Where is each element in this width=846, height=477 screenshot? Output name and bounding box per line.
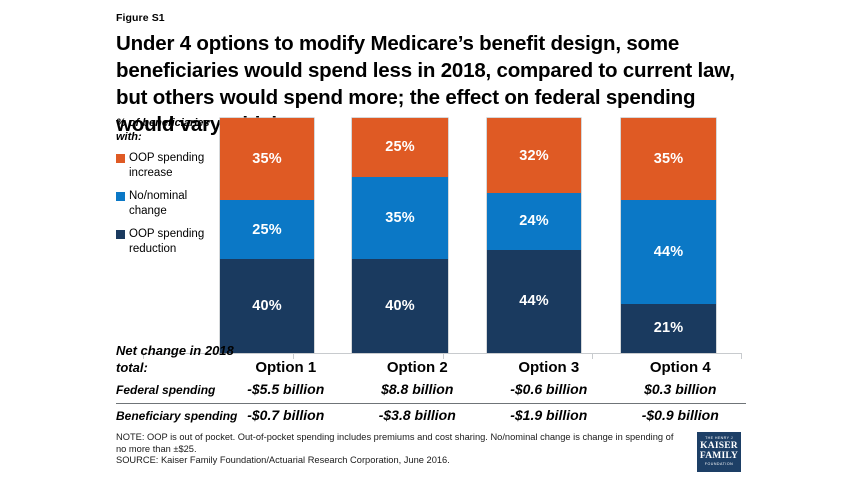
bar-segment-label: 40% xyxy=(385,298,415,314)
legend-title: % of beneficiaries with: xyxy=(116,116,220,144)
cell-beneficiary-option-1: -$0.7 billion xyxy=(220,407,352,423)
bar-segment-label: 21% xyxy=(654,320,684,336)
bar-segment-oop-reduction[interactable]: 21% xyxy=(621,304,716,353)
footnotes: NOTE: OOP is out of pocket. Out-of-pocke… xyxy=(116,432,676,467)
bar-segment-label: 35% xyxy=(654,151,684,167)
logo-line-1: THE HENRY J xyxy=(705,437,733,441)
bar-segment-no-nominal-change[interactable]: 24% xyxy=(487,193,581,249)
bar-segment-label: 24% xyxy=(519,213,549,229)
column-header-option-3: Option 3 xyxy=(483,359,615,376)
cell-federal-option-3: -$0.6 billion xyxy=(483,381,615,397)
bar-segment-label: 25% xyxy=(252,222,282,238)
source-text: SOURCE: Kaiser Family Foundation/Actuari… xyxy=(116,455,676,467)
bar-option-2[interactable]: 25% 35% 40% xyxy=(352,118,448,353)
net-change-label: Net change in 2018 total: xyxy=(116,342,234,376)
chart-plot-area: 35% 25% 40% 25% 35% 40% 32% xyxy=(220,118,716,353)
legend-item-oop-increase[interactable]: OOP spending increase xyxy=(116,151,220,180)
column-header-option-4: Option 4 xyxy=(615,359,747,376)
bar-option-4[interactable]: 35% 44% 21% xyxy=(621,118,716,353)
bar-segment-label: 44% xyxy=(654,244,684,260)
legend-swatch-icon-navy xyxy=(116,230,125,239)
chart-legend: % of beneficiaries with: OOP spending in… xyxy=(116,116,220,265)
legend-swatch-icon-orange xyxy=(116,154,125,163)
column-header-option-1: Option 1 xyxy=(220,359,352,376)
bar-segment-oop-increase[interactable]: 25% xyxy=(352,118,448,177)
legend-swatch-icon-blue xyxy=(116,192,125,201)
legend-item-label: No/nominal change xyxy=(129,189,220,218)
logo-line-3: FAMILY xyxy=(700,452,738,462)
legend-item-oop-reduction[interactable]: OOP spending reduction xyxy=(116,227,220,256)
note-text: NOTE: OOP is out of pocket. Out-of-pocke… xyxy=(116,432,676,455)
table-row-beneficiary-spending: -$0.7 billion -$3.8 billion -$1.9 billio… xyxy=(220,407,746,423)
cell-beneficiary-option-2: -$3.8 billion xyxy=(352,407,484,423)
logo-line-4: FOUNDATION xyxy=(705,463,734,467)
bar-option-3[interactable]: 32% 24% 44% xyxy=(487,118,581,353)
column-header-option-2: Option 2 xyxy=(352,359,484,376)
cell-beneficiary-option-4: -$0.9 billion xyxy=(615,407,747,423)
bar-segment-label: 35% xyxy=(385,210,415,226)
legend-item-label: OOP spending reduction xyxy=(129,227,220,256)
bar-segment-no-nominal-change[interactable]: 25% xyxy=(220,200,314,259)
legend-item-no-nominal-change[interactable]: No/nominal change xyxy=(116,189,220,218)
bar-segment-no-nominal-change[interactable]: 35% xyxy=(352,177,448,259)
table-divider xyxy=(116,403,746,404)
bar-segment-label: 44% xyxy=(519,293,549,309)
cell-beneficiary-option-3: -$1.9 billion xyxy=(483,407,615,423)
figure-label: Figure S1 xyxy=(116,12,165,24)
bar-segment-oop-increase[interactable]: 35% xyxy=(621,118,716,200)
bar-segment-label: 40% xyxy=(252,298,282,314)
slide-canvas: Figure S1 Under 4 options to modify Medi… xyxy=(0,0,846,477)
kaiser-family-foundation-logo: THE HENRY J KAISER FAMILY FOUNDATION xyxy=(697,432,741,472)
cell-federal-option-2: $8.8 billion xyxy=(352,381,484,397)
option-header-row: Option 1 Option 2 Option 3 Option 4 xyxy=(220,359,746,376)
bar-segment-label: 35% xyxy=(252,151,282,167)
bar-segment-oop-reduction[interactable]: 40% xyxy=(220,259,314,353)
bar-segment-no-nominal-change[interactable]: 44% xyxy=(621,200,716,303)
cell-federal-option-4: $0.3 billion xyxy=(615,381,747,397)
bar-segment-label: 25% xyxy=(385,139,415,155)
bar-segment-oop-reduction[interactable]: 44% xyxy=(487,250,581,353)
table-row-federal-spending: -$5.5 billion $8.8 billion -$0.6 billion… xyxy=(220,381,746,397)
bar-segment-label: 32% xyxy=(519,148,549,164)
bar-segment-oop-increase[interactable]: 35% xyxy=(220,118,314,200)
cell-federal-option-1: -$5.5 billion xyxy=(220,381,352,397)
bar-segment-oop-reduction[interactable]: 40% xyxy=(352,259,448,353)
legend-item-label: OOP spending increase xyxy=(129,151,220,180)
bar-segment-oop-increase[interactable]: 32% xyxy=(487,118,581,193)
bar-option-1[interactable]: 35% 25% 40% xyxy=(220,118,314,353)
